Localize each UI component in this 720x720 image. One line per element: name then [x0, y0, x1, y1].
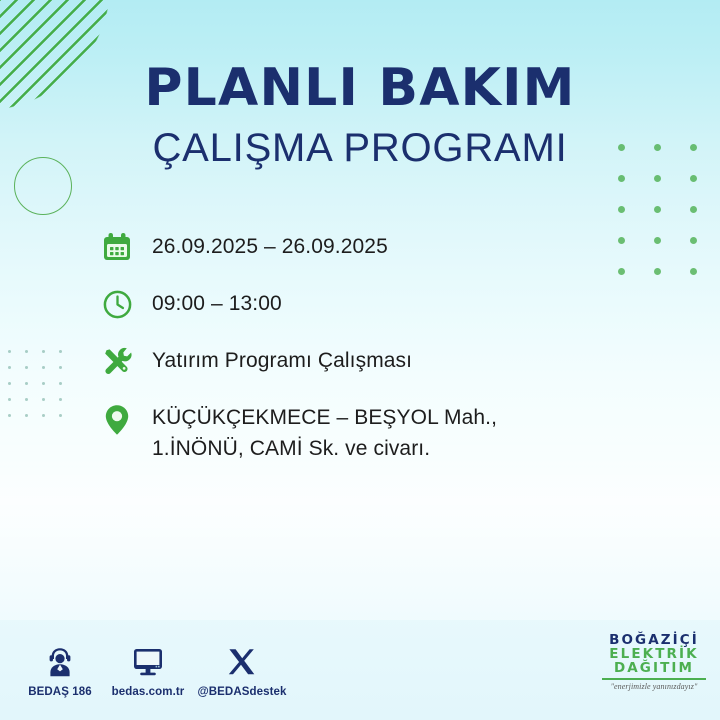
- detail-location-text: KÜÇÜKÇEKMECE – BEŞYOL Mah.,1.İNÖNÜ, CAMİ…: [152, 399, 497, 464]
- x-twitter-icon: [190, 644, 294, 680]
- detail-worktype-text: Yatırım Programı Çalışması: [152, 342, 412, 376]
- logo-line-dagitim: DAĞITIM: [600, 662, 708, 676]
- dot-grid-left-decoration: [8, 350, 76, 430]
- maintenance-details-list: 26.09.2025 – 26.09.2025 09:00 – 13:00: [98, 228, 658, 483]
- footer-item-twitter[interactable]: @BEDASdestek: [190, 644, 294, 698]
- footer-label-website: bedas.com.tr: [104, 686, 192, 698]
- poster-title-block: PLANLI BAKIM ÇALIŞMA PROGRAMI: [0, 62, 720, 168]
- detail-time-text: 09:00 – 13:00: [152, 285, 282, 319]
- tools-icon: [98, 342, 136, 380]
- bedas-logo: BOĞAZİÇİ ELEKTRİK DAĞITIM "enerjimizle y…: [600, 634, 708, 691]
- footer-item-call-center[interactable]: BEDAŞ 186: [18, 644, 102, 698]
- detail-location-line1: KÜÇÜKÇEKMECE – BEŞYOL Mah.,: [152, 406, 497, 429]
- detail-row-location: KÜÇÜKÇEKMECE – BEŞYOL Mah.,1.İNÖNÜ, CAMİ…: [98, 399, 658, 464]
- detail-row-time: 09:00 – 13:00: [98, 285, 658, 323]
- detail-location-line2: 1.İNÖNÜ, CAMİ Sk. ve civarı.: [152, 437, 430, 460]
- detail-row-date: 26.09.2025 – 26.09.2025: [98, 228, 658, 266]
- logo-divider: [602, 678, 706, 679]
- poster-title-secondary: ÇALIŞMA PROGRAMI: [0, 128, 720, 168]
- monitor-icon: [104, 644, 192, 680]
- footer-item-website[interactable]: bedas.com.tr: [104, 644, 192, 698]
- calendar-icon: [98, 228, 136, 266]
- logo-tagline: "enerjimizle yanınızdayız": [600, 682, 708, 691]
- footer-label-call-center: BEDAŞ 186: [18, 686, 102, 698]
- location-pin-icon: [98, 401, 136, 439]
- poster-title-primary: PLANLI BAKIM: [0, 62, 720, 114]
- planned-maintenance-poster: PLANLI BAKIM ÇALIŞMA PROGRAMI: [0, 0, 720, 720]
- detail-date-text: 26.09.2025 – 26.09.2025: [152, 228, 388, 262]
- detail-row-worktype: Yatırım Programı Çalışması: [98, 342, 658, 380]
- clock-icon: [98, 285, 136, 323]
- call-center-agent-icon: [18, 644, 102, 680]
- background-band-lower: [0, 500, 720, 620]
- footer-label-twitter: @BEDASdestek: [190, 686, 294, 698]
